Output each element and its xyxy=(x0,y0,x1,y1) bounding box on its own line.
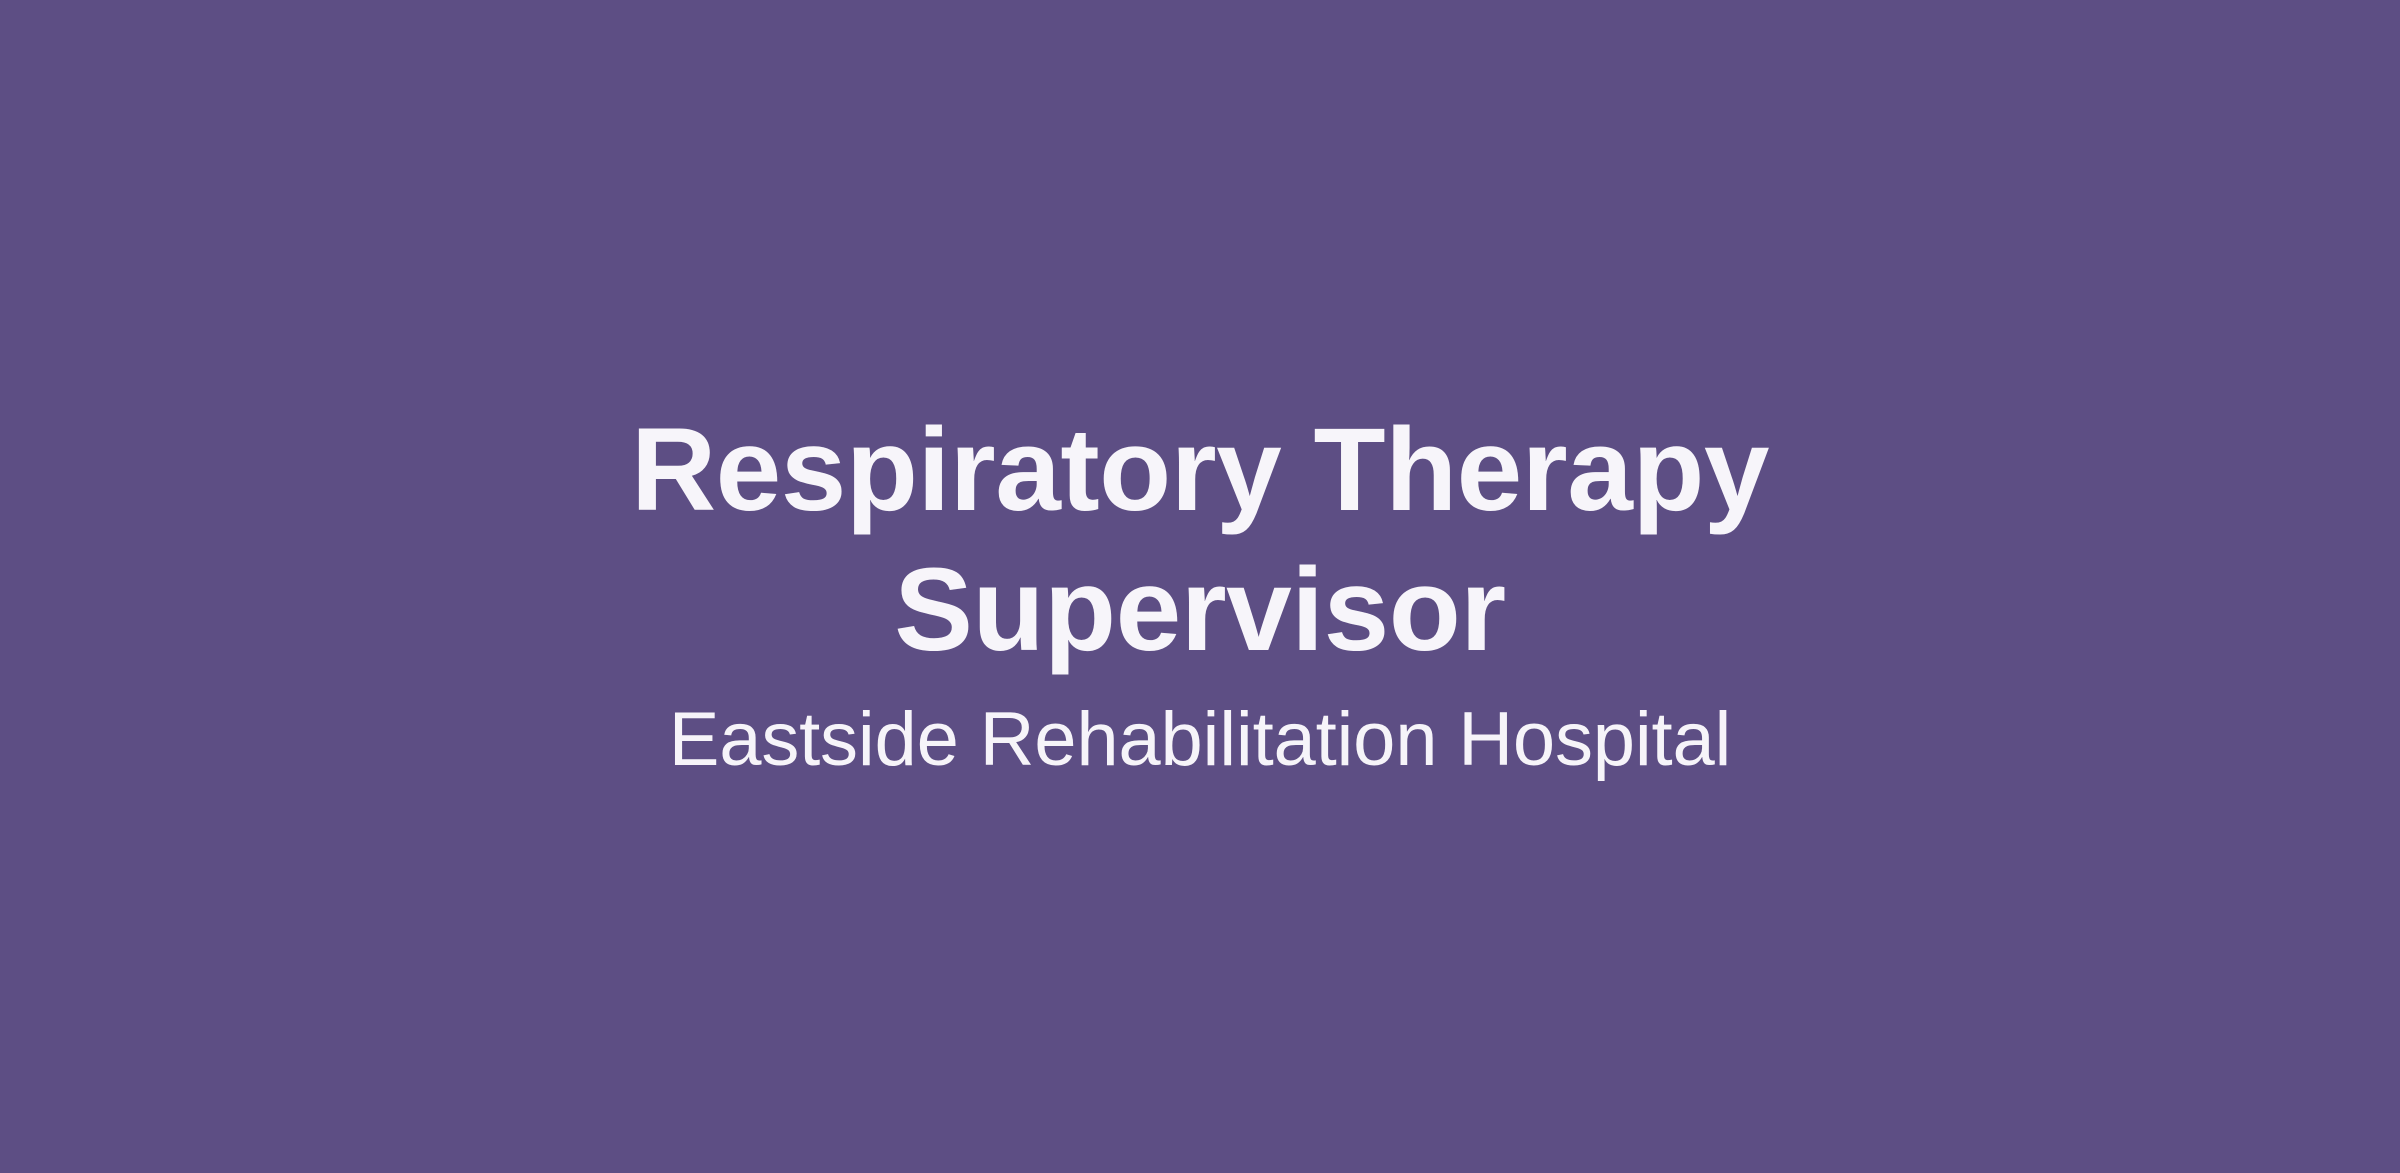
job-title: Respiratory Therapy Supervisor xyxy=(540,400,1860,681)
job-header-text-block: Respiratory Therapy Supervisor Eastside … xyxy=(540,400,1860,786)
employer-name: Eastside Rehabilitation Hospital xyxy=(669,694,1731,785)
job-posting-card: Respiratory Therapy Supervisor Eastside … xyxy=(0,0,2400,1173)
